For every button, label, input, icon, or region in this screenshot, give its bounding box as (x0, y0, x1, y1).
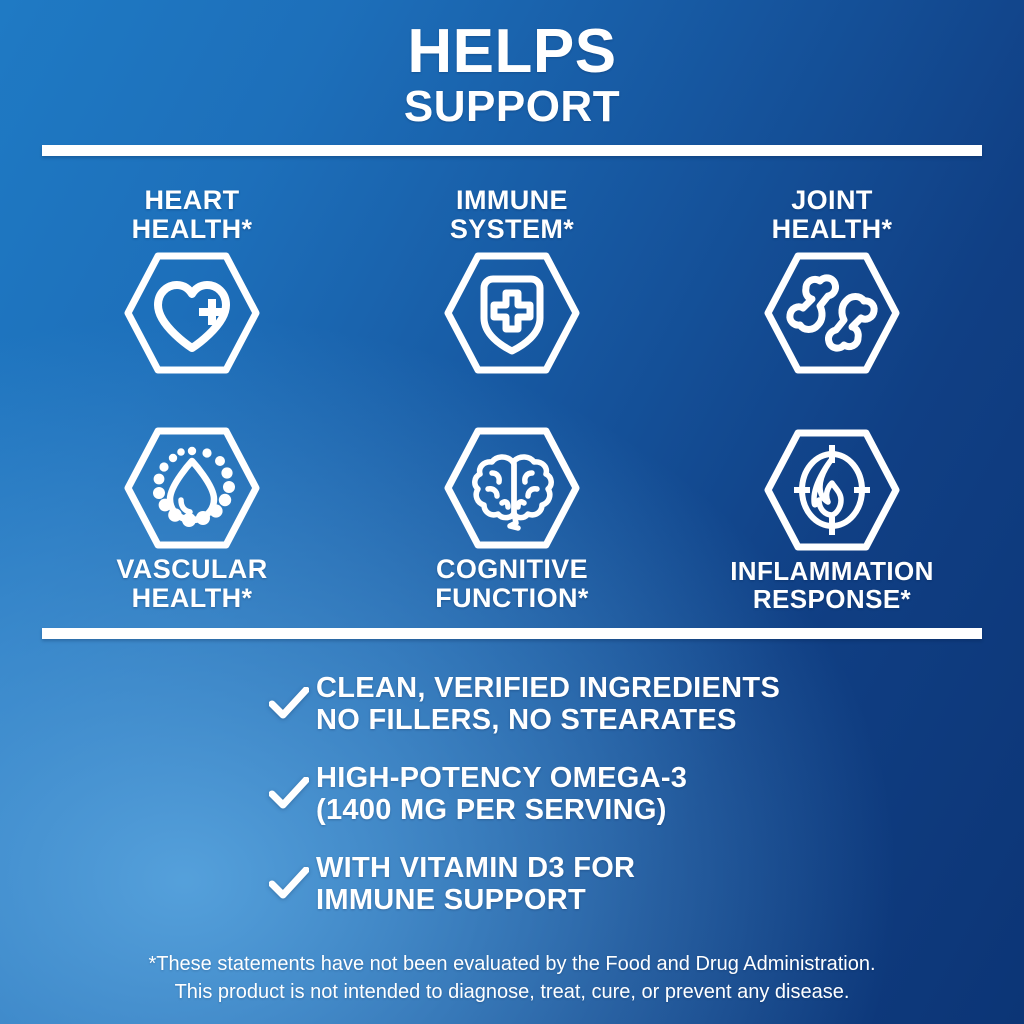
benefits-row-2: VASCULAR HEALTH* (42, 408, 982, 613)
divider-top (42, 145, 982, 156)
bullet-text: HIGH-POTENCY OMEGA-3 (1400 MG PER SERVIN… (316, 762, 687, 826)
feature-bullet-list: CLEAN, VERIFIED INGREDIENTS NO FILLERS, … (262, 672, 962, 942)
benefit-inflammation-response: INFLAMMATION RESPONSE* (682, 408, 982, 613)
title-line-2: SUPPORT (0, 82, 1024, 132)
product-benefits-infographic: HELPS SUPPORT HEART HEALTH* IMMUNE SYSTE… (0, 0, 1024, 1024)
blood-droplet-cells-icon (124, 427, 260, 549)
page-title: HELPS SUPPORT (0, 22, 1024, 132)
brain-icon (444, 427, 580, 549)
divider-bottom (42, 628, 982, 639)
benefits-row-1: HEART HEALTH* IMMUNE SYSTEM* (42, 186, 982, 391)
benefit-label: INFLAMMATION RESPONSE* (730, 557, 934, 613)
shield-cross-icon (444, 252, 580, 374)
benefit-label: VASCULAR HEALTH* (116, 555, 267, 613)
benefit-label: JOINT HEALTH* (772, 186, 893, 244)
list-item: CLEAN, VERIFIED INGREDIENTS NO FILLERS, … (262, 672, 962, 736)
flame-target-icon (764, 429, 900, 551)
check-icon (262, 777, 316, 811)
bullet-text: WITH VITAMIN D3 FOR IMMUNE SUPPORT (316, 852, 635, 916)
list-item: HIGH-POTENCY OMEGA-3 (1400 MG PER SERVIN… (262, 762, 962, 826)
heart-plus-icon (124, 252, 260, 374)
benefit-immune-system: IMMUNE SYSTEM* (362, 186, 662, 391)
benefit-vascular-health: VASCULAR HEALTH* (42, 408, 342, 613)
benefit-heart-health: HEART HEALTH* (42, 186, 342, 391)
check-icon (262, 867, 316, 901)
check-icon (262, 687, 316, 721)
benefits-grid: HEART HEALTH* IMMUNE SYSTEM* (42, 186, 982, 616)
benefit-cognitive-function: COGNITIVE FUNCTION* (362, 408, 662, 613)
benefit-joint-health: JOINT HEALTH* (682, 186, 982, 391)
fda-disclaimer: *These statements have not been evaluate… (0, 950, 1024, 1006)
title-line-1: HELPS (0, 22, 1024, 82)
list-item: WITH VITAMIN D3 FOR IMMUNE SUPPORT (262, 852, 962, 916)
benefit-label: HEART HEALTH* (132, 186, 253, 244)
benefit-label: COGNITIVE FUNCTION* (435, 555, 589, 613)
bone-joint-icon (764, 252, 900, 374)
benefit-label: IMMUNE SYSTEM* (450, 186, 574, 244)
bullet-text: CLEAN, VERIFIED INGREDIENTS NO FILLERS, … (316, 672, 780, 736)
